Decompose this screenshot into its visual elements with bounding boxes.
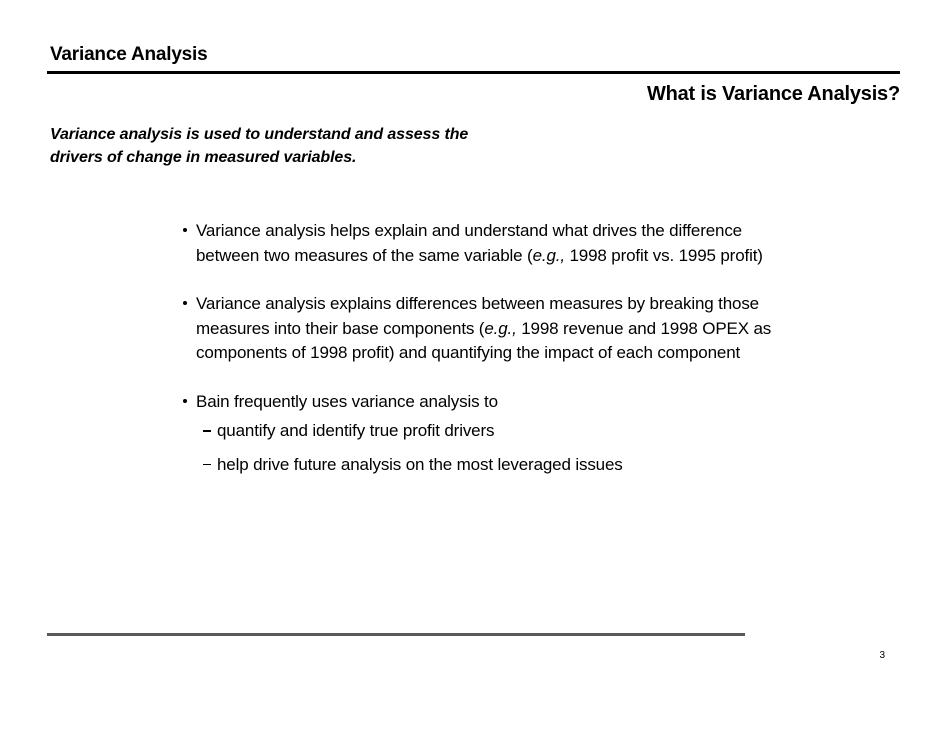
- sub-list-item-text: help drive future analysis on the most l…: [217, 455, 623, 474]
- sub-bullet-list: quantify and identify true profit driver…: [196, 419, 802, 477]
- bullet-dot-icon: [183, 301, 187, 305]
- page-number: 3: [845, 650, 885, 661]
- footer-divider: [47, 633, 745, 636]
- list-item-text: Variance analysis explains differences b…: [196, 292, 802, 366]
- page-title: Variance Analysis: [50, 44, 208, 66]
- leadin-line-2: drivers of change in measured variables.: [50, 146, 670, 169]
- header-divider: [47, 71, 900, 74]
- list-item-italic-eg: e.g.,: [533, 246, 565, 265]
- list-item: Bain frequently uses variance analysis t…: [182, 390, 802, 478]
- leadin-statement: Variance analysis is used to understand …: [50, 123, 670, 169]
- list-item-italic-eg: e.g.,: [484, 319, 516, 338]
- slide-canvas: Variance Analysis What is Variance Analy…: [0, 0, 950, 735]
- list-item-text-after: 1998 profit vs. 1995 profit): [565, 246, 763, 265]
- dash-icon: [203, 464, 211, 466]
- slide-subtitle: What is Variance Analysis?: [400, 83, 900, 106]
- bullet-list: Variance analysis helps explain and unde…: [182, 219, 802, 477]
- bullet-dot-icon: [183, 399, 187, 403]
- sub-list-item-text: quantify and identify true profit driver…: [217, 421, 494, 440]
- dash-icon: [203, 430, 211, 432]
- bullet-dot-icon: [183, 228, 187, 232]
- sub-list-item: help drive future analysis on the most l…: [203, 453, 802, 478]
- list-item-text: Bain frequently uses variance analysis t…: [196, 390, 802, 415]
- list-item: Variance analysis explains differences b…: [182, 292, 802, 366]
- list-item-text: Variance analysis helps explain and unde…: [196, 219, 802, 268]
- sub-list-item: quantify and identify true profit driver…: [203, 419, 802, 444]
- list-item: Variance analysis helps explain and unde…: [182, 219, 802, 268]
- leadin-line-1: Variance analysis is used to understand …: [50, 123, 670, 146]
